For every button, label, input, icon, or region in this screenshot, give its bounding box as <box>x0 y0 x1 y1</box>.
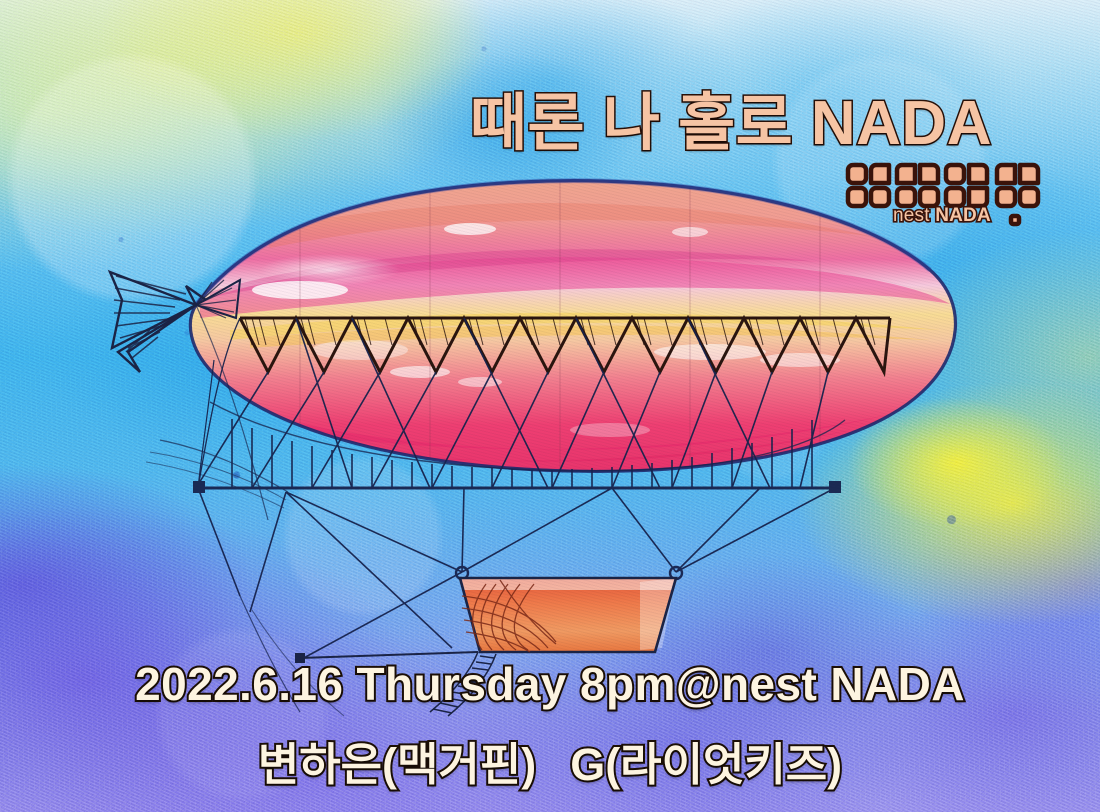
poster-title: 때론 나 홀로 NADA <box>470 72 992 162</box>
lineup-line: 변하은(맥거핀)G(라이엇키즈) <box>0 728 1100 793</box>
nest-word: nest <box>893 205 935 226</box>
lineup-artist-2: G(라이엇키즈) <box>570 739 842 790</box>
nest-nada-wordmark: nest NADA <box>893 205 991 227</box>
poster-canvas: 때론 나 홀로 NADA nest NAD <box>0 0 1100 812</box>
nada-block-logo-icon <box>845 162 1045 240</box>
nada-word: NADA <box>935 205 991 226</box>
event-date-venue-line: 2022.6.16 Thursday 8pm@nest NADA <box>0 657 1100 711</box>
lineup-artist-1: 변하은(맥거핀) <box>258 739 536 790</box>
